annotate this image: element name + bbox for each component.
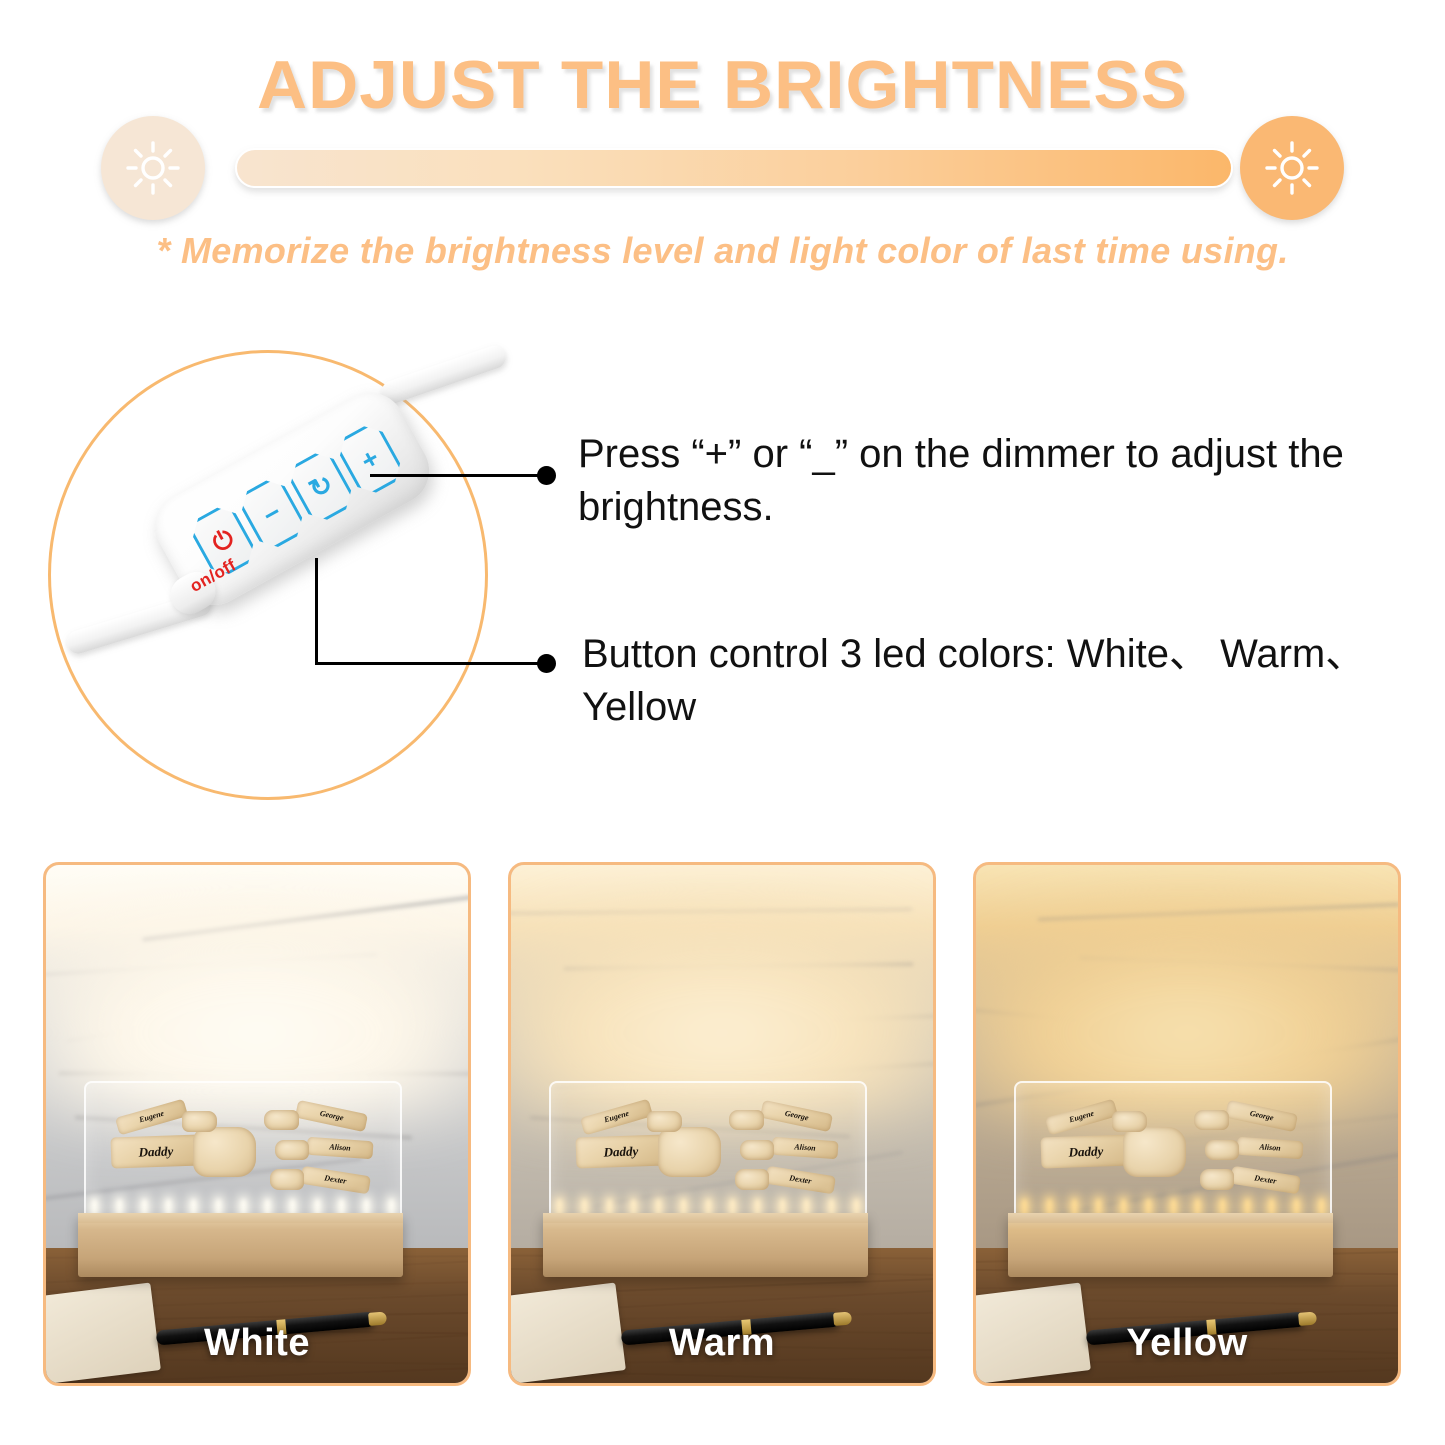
infographic-page: ADJUST THE BRIGHTNESS [0, 0, 1445, 1445]
brightness-slider[interactable] [235, 148, 1233, 188]
subtitle-note: * Memorize the brightness level and ligh… [0, 230, 1445, 272]
callout-line-2-horizontal [315, 662, 545, 665]
callout-dot-2 [537, 654, 556, 673]
header-section: ADJUST THE BRIGHTNESS [0, 0, 1445, 300]
acrylic-plaque: DaddyEugeneGeorgeAlisonDexter [1014, 1081, 1332, 1220]
arm-upper-right: George [760, 1099, 833, 1131]
fist-daddy [193, 1127, 256, 1177]
fist-upper-left [1112, 1111, 1146, 1131]
name-label-upper-left: Eugene [604, 1109, 631, 1124]
fist-middle-right [275, 1140, 309, 1160]
name-label-lower-right: Dexter [324, 1174, 347, 1185]
name-label-upper-right: George [1249, 1109, 1274, 1122]
color-label: Warm [511, 1322, 933, 1365]
fist-daddy [1123, 1127, 1186, 1177]
sun-icon-low [101, 116, 205, 220]
color-label: White [46, 1322, 468, 1365]
page-title: ADJUST THE BRIGHTNESS [0, 46, 1445, 124]
fist-middle-right [740, 1140, 774, 1160]
arm-middle-right: Alison [771, 1136, 838, 1158]
product-scene: DaddyEugeneGeorgeAlisonDexter [976, 865, 1398, 1383]
dimmer-section: ⏻ − ↻ + on/off [0, 330, 1445, 830]
fist-lower-right [1200, 1169, 1234, 1189]
sun-icon-high [1240, 116, 1344, 220]
arm-lower-right: Dexter [1230, 1165, 1301, 1193]
arm-upper-right: George [1225, 1099, 1298, 1131]
photo-card-warm[interactable]: DaddyEugeneGeorgeAlisonDexter Warm [508, 862, 936, 1386]
arm-upper-left: Eugene [1045, 1098, 1118, 1135]
arm-daddy: Daddy [1041, 1135, 1132, 1169]
arm-upper-left: Eugene [580, 1098, 653, 1135]
fist-upper-right [1194, 1110, 1228, 1130]
arm-lower-right: Dexter [765, 1165, 836, 1193]
callout-text-brightness: Press “+” or “_” on the dimmer to adjust… [578, 428, 1388, 534]
fist-upper-left [647, 1111, 681, 1131]
name-label-lower-right: Dexter [789, 1174, 812, 1185]
photo-card-white[interactable]: DaddyEugeneGeorgeAlisonDexter White [43, 862, 471, 1386]
base-top-face [1008, 1213, 1333, 1223]
fist-lower-right [735, 1169, 769, 1189]
arm-lower-right: Dexter [300, 1165, 371, 1193]
callout-dot-1 [537, 466, 556, 485]
plus-icon: + [357, 444, 384, 475]
minus-icon: − [259, 498, 286, 529]
name-label-daddy: Daddy [1068, 1145, 1103, 1159]
product-scene: DaddyEugeneGeorgeAlisonDexter [46, 865, 468, 1383]
acrylic-plaque: DaddyEugeneGeorgeAlisonDexter [84, 1081, 402, 1220]
fist-upper-left [182, 1111, 216, 1131]
arm-middle-right: Alison [306, 1136, 373, 1158]
engraved-artwork: DaddyEugeneGeorgeAlisonDexter [1041, 1091, 1305, 1210]
name-label-daddy: Daddy [603, 1145, 638, 1159]
wooden-base [1008, 1213, 1333, 1277]
color-label: Yellow [976, 1322, 1398, 1365]
photo-card-yellow[interactable]: DaddyEugeneGeorgeAlisonDexter Yellow [973, 862, 1401, 1386]
wooden-base [543, 1213, 868, 1277]
acrylic-plaque: DaddyEugeneGeorgeAlisonDexter [549, 1081, 867, 1220]
arm-daddy: Daddy [111, 1135, 202, 1169]
arm-upper-right: George [295, 1099, 368, 1131]
power-icon: ⏻ [208, 525, 237, 556]
name-label-lower-right: Dexter [1254, 1174, 1277, 1185]
name-label-upper-left: Eugene [1069, 1109, 1096, 1124]
callout-line-1 [370, 474, 545, 477]
cycle-icon: ↻ [305, 469, 338, 504]
base-top-face [543, 1213, 868, 1223]
engraved-artwork: DaddyEugeneGeorgeAlisonDexter [576, 1091, 840, 1210]
name-label-middle-right: Alison [329, 1143, 351, 1152]
callout-line-2-vertical [315, 558, 318, 665]
name-label-upper-right: George [784, 1109, 809, 1122]
name-label-middle-right: Alison [1259, 1143, 1281, 1152]
callout-text-led-colors: Button control 3 led colors: White、 Warm… [582, 628, 1412, 734]
fist-lower-right [270, 1169, 304, 1189]
cord-right [378, 343, 508, 407]
name-label-upper-left: Eugene [139, 1109, 166, 1124]
arm-daddy: Daddy [576, 1135, 667, 1169]
fist-upper-right [729, 1110, 763, 1130]
arm-middle-right: Alison [1236, 1136, 1303, 1158]
fist-middle-right [1205, 1140, 1239, 1160]
name-label-middle-right: Alison [794, 1143, 816, 1152]
product-scene: DaddyEugeneGeorgeAlisonDexter [511, 865, 933, 1383]
arm-upper-left: Eugene [115, 1098, 188, 1135]
fist-daddy [658, 1127, 721, 1177]
engraved-artwork: DaddyEugeneGeorgeAlisonDexter [111, 1091, 375, 1210]
wooden-base [78, 1213, 403, 1277]
name-label-daddy: Daddy [138, 1145, 173, 1159]
base-top-face [78, 1213, 403, 1223]
name-label-upper-right: George [319, 1109, 344, 1122]
photo-card-row: DaddyEugeneGeorgeAlisonDexter White Dadd… [0, 862, 1445, 1392]
fist-upper-right [264, 1110, 298, 1130]
